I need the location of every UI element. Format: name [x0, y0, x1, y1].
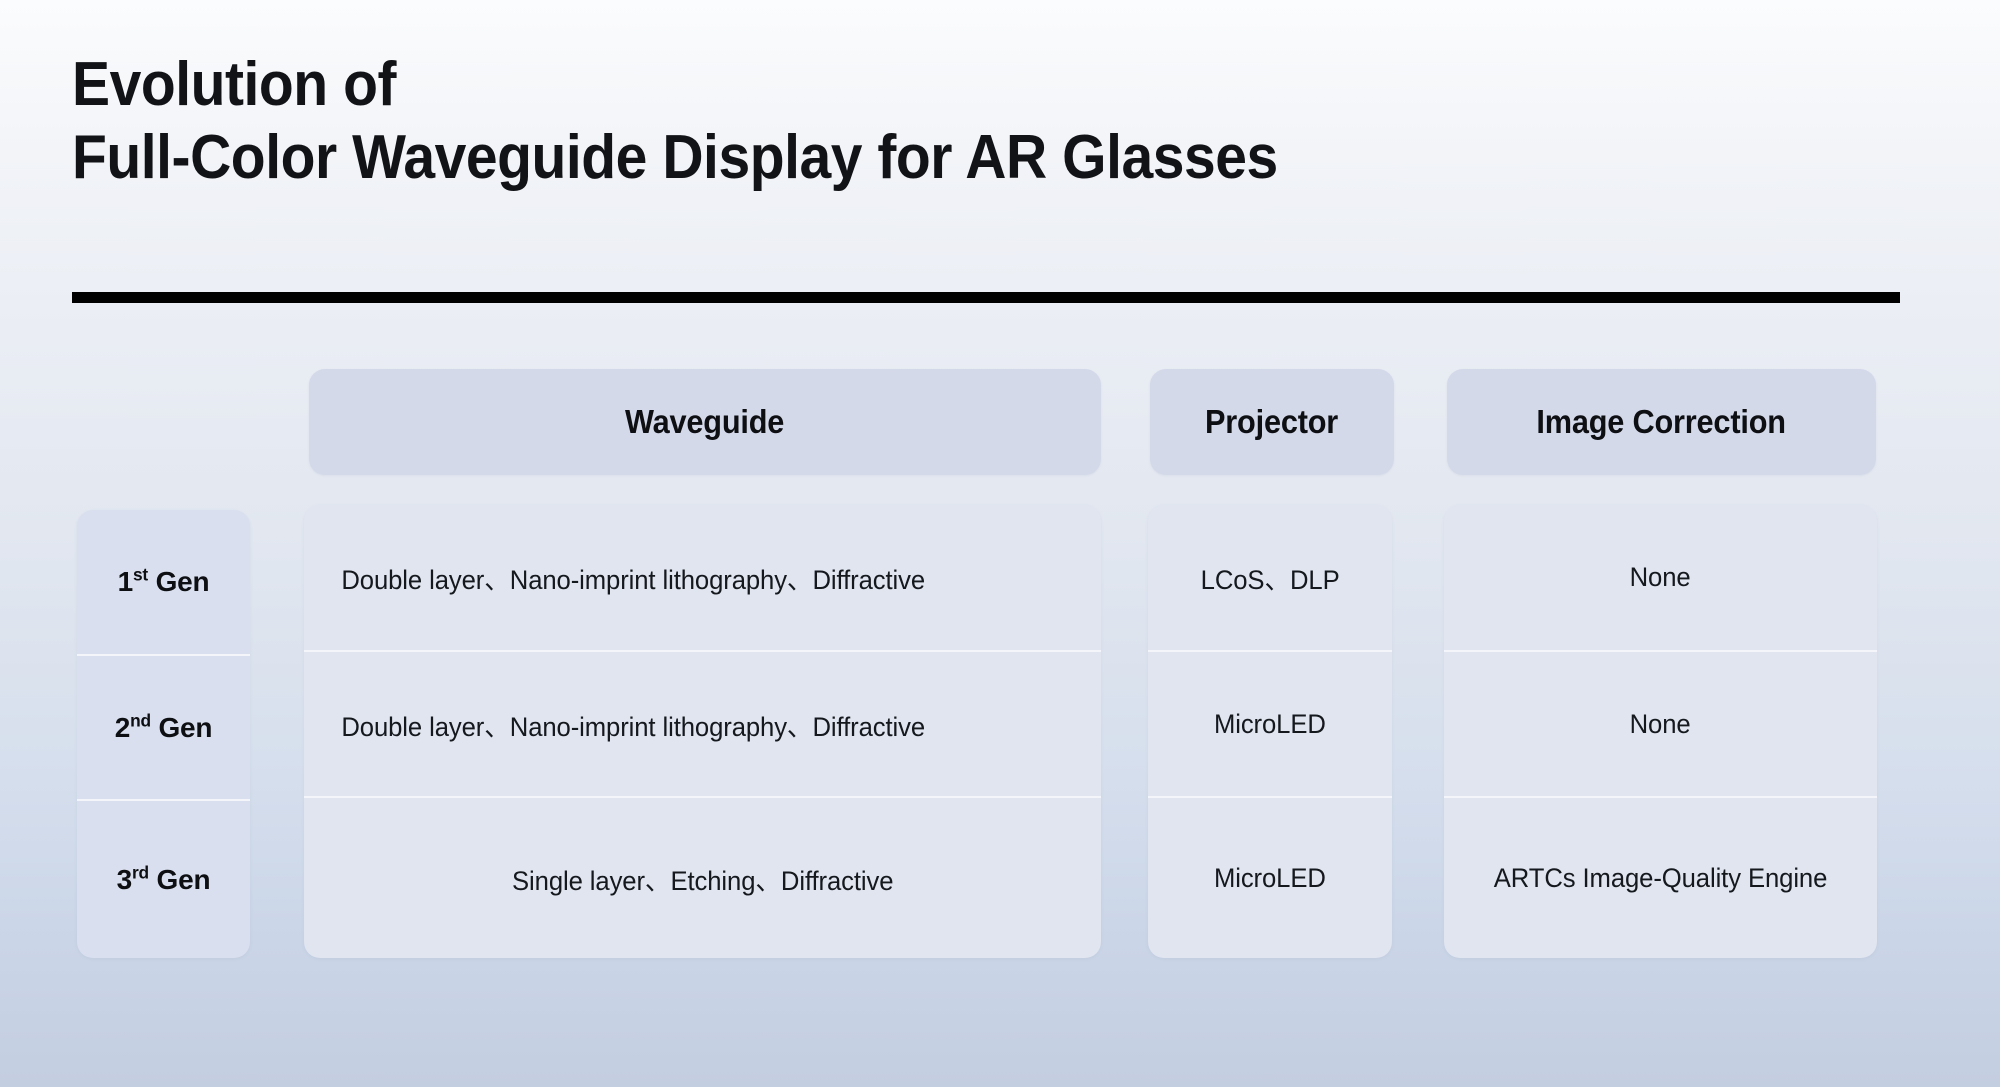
table-cell-image-correction-1: None	[1444, 505, 1877, 650]
projector-value-1: LCoS、DLP	[1201, 558, 1340, 597]
image-correction-value-1: None	[1630, 562, 1691, 593]
column-header-waveguide-label: Waveguide	[625, 403, 784, 441]
waveguide-value-3: Single layer、Etching、Diffractive	[512, 859, 893, 898]
column-header-waveguide: Waveguide	[309, 369, 1101, 475]
table-cell-projector-2: MicroLED	[1148, 650, 1392, 796]
column-header-projector-label: Projector	[1205, 403, 1338, 441]
table-cell-image-correction-3: ARTCs Image-Quality Engine	[1444, 796, 1877, 958]
table-cell-waveguide-2: Double layer、Nano-imprint lithography、Di…	[304, 650, 1101, 796]
table-cell-image-correction-2: None	[1444, 650, 1877, 796]
waveguide-value-2: Double layer、Nano-imprint lithography、Di…	[341, 705, 925, 744]
table-cell-projector-3: MicroLED	[1148, 796, 1392, 958]
gen-label-1: 1st Gen	[118, 566, 210, 598]
waveguide-value-1: Double layer、Nano-imprint lithography、Di…	[341, 558, 925, 597]
table-row-gen-3: 3rd Gen	[77, 799, 250, 958]
gen-label-2: 2nd Gen	[115, 712, 213, 744]
table-cell-waveguide-3: Single layer、Etching、Diffractive	[304, 796, 1101, 958]
projector-value-3: MicroLED	[1214, 863, 1326, 894]
projector-column: LCoS、DLP MicroLED MicroLED	[1148, 505, 1392, 958]
table-cell-projector-1: LCoS、DLP	[1148, 505, 1392, 650]
generation-column: 1st Gen 2nd Gen 3rd Gen	[77, 510, 250, 958]
projector-value-2: MicroLED	[1214, 709, 1326, 740]
table-cell-waveguide-1: Double layer、Nano-imprint lithography、Di…	[304, 505, 1101, 650]
column-header-projector: Projector	[1150, 369, 1394, 475]
table-row-gen-1: 1st Gen	[77, 510, 250, 654]
column-header-image-correction-label: Image Correction	[1537, 403, 1786, 441]
waveguide-column: Double layer、Nano-imprint lithography、Di…	[304, 505, 1101, 958]
comparison-table: 1st Gen 2nd Gen 3rd Gen Waveguide Double…	[0, 0, 2000, 1087]
column-header-image-correction: Image Correction	[1447, 369, 1876, 475]
image-correction-value-2: None	[1630, 709, 1691, 740]
image-correction-value-3: ARTCs Image-Quality Engine	[1494, 863, 1828, 894]
infographic-page: Evolution of Full-Color Waveguide Displa…	[0, 0, 2000, 1087]
gen-label-3: 3rd Gen	[117, 864, 211, 896]
table-row-gen-2: 2nd Gen	[77, 654, 250, 799]
image-correction-column: None None ARTCs Image-Quality Engine	[1444, 505, 1877, 958]
